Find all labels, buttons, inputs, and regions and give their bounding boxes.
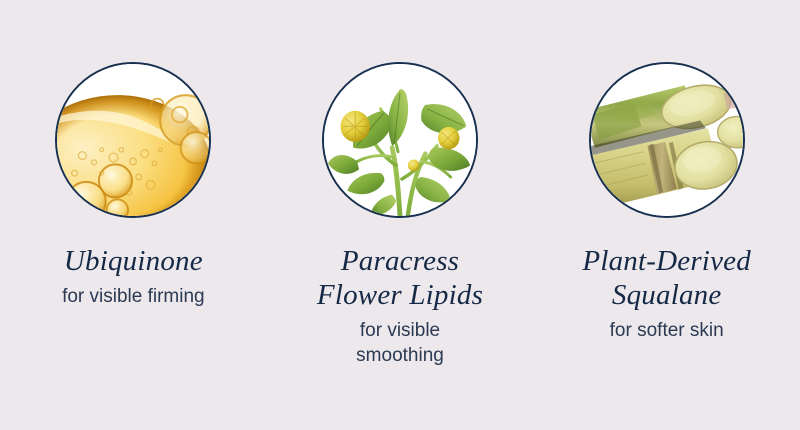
- ingredient-benefit: for visible firming: [0, 285, 267, 310]
- ingredient-name: Paracress Flower Lipids: [267, 244, 534, 312]
- ingredient-highlights-panel: Ubiquinone for visible firming: [0, 0, 800, 430]
- oil-droplet-image: [55, 62, 211, 218]
- ingredient-card-ubiquinone: Ubiquinone for visible firming: [0, 0, 267, 430]
- ingredient-name: Ubiquinone: [0, 244, 267, 278]
- ingredient-caption: Plant-Derived Squalane for softer skin: [533, 244, 800, 344]
- ingredient-caption: Ubiquinone for visible firming: [0, 244, 267, 310]
- ingredient-columns: Ubiquinone for visible firming: [0, 0, 800, 430]
- sugarcane-stalks-image: [589, 62, 745, 218]
- ingredient-card-squalane: Plant-Derived Squalane for softer skin: [533, 0, 800, 430]
- ingredient-caption: Paracress Flower Lipids for visible smoo…: [267, 244, 534, 369]
- ingredient-card-paracress: Paracress Flower Lipids for visible smoo…: [267, 0, 534, 430]
- ingredient-benefit: for visible smoothing: [267, 319, 534, 368]
- ingredient-name: Plant-Derived Squalane: [533, 244, 800, 312]
- paracress-plant-image: [322, 62, 478, 218]
- ingredient-benefit: for softer skin: [533, 319, 800, 344]
